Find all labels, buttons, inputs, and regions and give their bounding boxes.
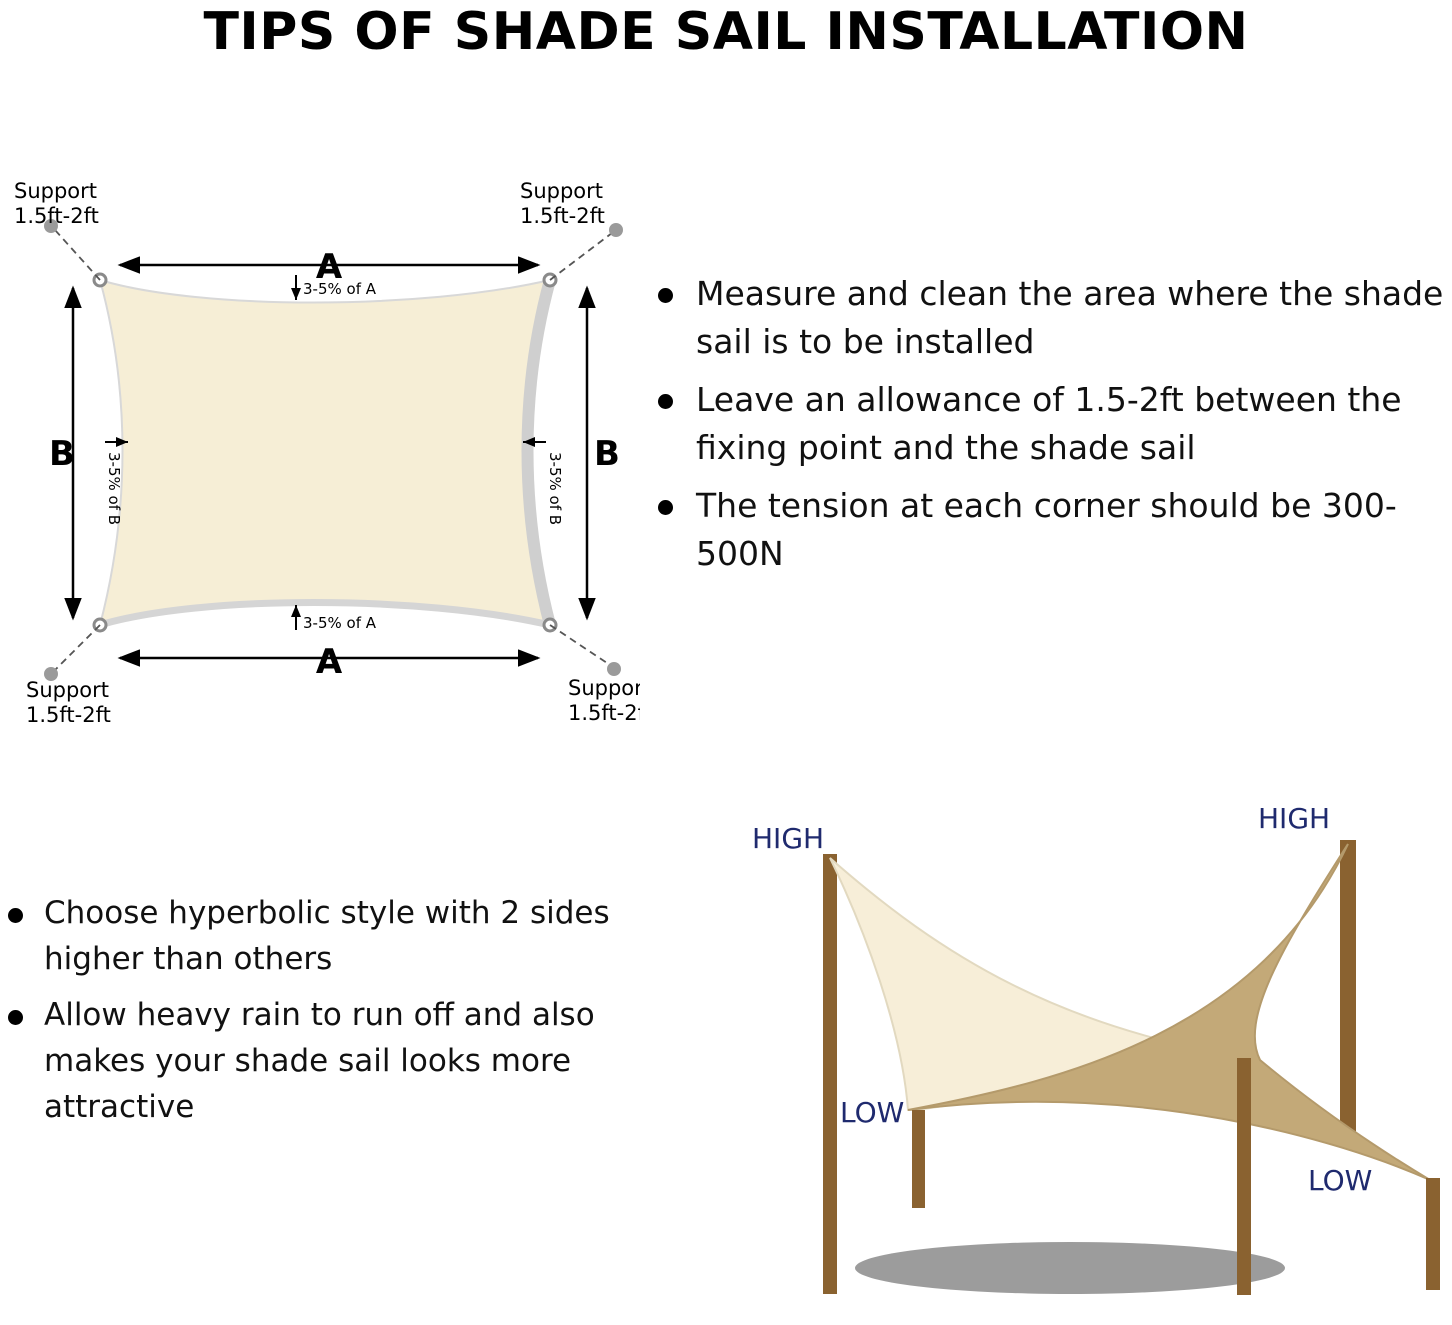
label-side-bottom: A: [316, 642, 343, 682]
installation-tips-list: Measure and clean the area where the sha…: [650, 270, 1450, 588]
ground-shadow: [855, 1242, 1285, 1294]
support-line-top-left: [55, 230, 100, 280]
label-high-right: HIGH: [1258, 802, 1330, 835]
sail-shape: [100, 280, 550, 625]
list-item: Allow heavy rain to run off and also mak…: [0, 992, 620, 1130]
support-label-top-right-line1: Support: [520, 179, 603, 203]
support-line-top-right: [550, 233, 612, 280]
hyperbolic-sail-illustration: HIGH HIGH LOW LOW: [640, 780, 1452, 1325]
post-front-right: [1426, 1178, 1440, 1290]
label-curve-right: 3-5% of B: [546, 452, 564, 525]
support-label-top-right-line2: 1.5ft-2ft: [520, 204, 605, 228]
label-high-left: HIGH: [752, 822, 824, 855]
anchor-dot-bottom-right: [607, 662, 621, 676]
label-low-right: LOW: [1308, 1164, 1372, 1197]
support-label-bottom-left-line1: Support: [26, 678, 109, 702]
shade-sail-dimension-diagram: A A B B 3-5% of A 3-5% of A 3-5% of B 3-…: [0, 160, 640, 760]
post-mid-right: [1237, 1058, 1251, 1295]
support-label-bottom-right-line2: 1.5ft-2ft: [568, 701, 640, 725]
label-curve-top: 3-5% of A: [303, 280, 377, 298]
anchor-dot-top-right: [609, 223, 623, 237]
label-side-right: B: [594, 434, 620, 474]
post-back-left: [823, 854, 837, 1294]
label-side-left: B: [49, 434, 75, 474]
list-item: Leave an allowance of 1.5-2ft between th…: [650, 376, 1450, 472]
label-low-left: LOW: [840, 1096, 904, 1129]
support-line-bottom-left: [55, 625, 100, 670]
support-label-bottom-left-line2: 1.5ft-2ft: [26, 703, 111, 727]
support-label-top-left-line2: 1.5ft-2ft: [14, 204, 99, 228]
label-curve-left: 3-5% of B: [105, 452, 123, 525]
post-back-right: [1340, 840, 1356, 1145]
post-front-left: [912, 1110, 925, 1208]
list-item: Measure and clean the area where the sha…: [650, 270, 1450, 366]
page-title: TIPS OF SHADE SAIL INSTALLATION: [0, 2, 1452, 62]
support-label-top-left-line1: Support: [14, 179, 97, 203]
label-curve-bottom: 3-5% of A: [303, 614, 377, 632]
support-label-bottom-right-line1: Support: [568, 676, 640, 700]
hyperbolic-tips-list: Choose hyperbolic style with 2 sides hig…: [0, 890, 620, 1140]
list-item: The tension at each corner should be 300…: [650, 482, 1450, 578]
list-item: Choose hyperbolic style with 2 sides hig…: [0, 890, 620, 982]
support-line-bottom-right: [550, 625, 610, 665]
